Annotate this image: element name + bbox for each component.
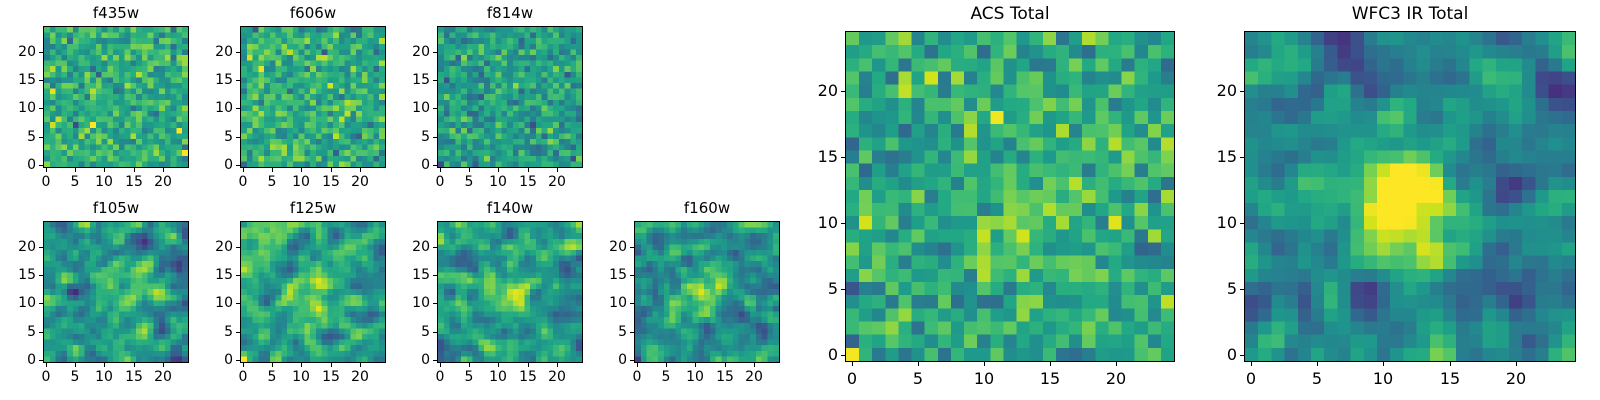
- x-tick-wfc3-ir-total-20: [1516, 362, 1517, 366]
- y-ticklabel-acs-total-15: 15: [755, 149, 838, 165]
- x-ticklabel-f814w-0: 0: [436, 175, 445, 189]
- x-ticklabel-acs-total-15: 15: [1040, 371, 1060, 387]
- panel-title-f435w: f435w: [43, 6, 189, 21]
- x-tick-f125w-0: [243, 363, 244, 367]
- heatmap-canvas-f140w: [438, 222, 582, 362]
- x-ticklabel-f125w-5: 5: [268, 370, 277, 384]
- panel-title-f125w: f125w: [240, 201, 386, 216]
- heatmap-canvas-f606w: [241, 27, 385, 167]
- y-ticklabel-f105w-0: 0: [0, 353, 36, 367]
- heatmap-f125w[interactable]: [240, 221, 386, 363]
- x-tick-f606w-5: [272, 168, 273, 172]
- x-tick-f606w-20: [360, 168, 361, 172]
- heatmap-canvas-f125w: [241, 222, 385, 362]
- x-ticklabel-f140w-5: 5: [465, 370, 474, 384]
- x-tick-wfc3-ir-total-0: [1251, 362, 1252, 366]
- x-ticklabel-f140w-15: 15: [519, 370, 537, 384]
- y-ticklabel-acs-total-20: 20: [755, 83, 838, 99]
- x-ticklabel-f140w-10: 10: [489, 370, 507, 384]
- x-ticklabel-acs-total-0: 0: [847, 371, 857, 387]
- x-tick-f814w-20: [557, 168, 558, 172]
- heatmap-f140w[interactable]: [437, 221, 583, 363]
- heatmap-f606w[interactable]: [240, 26, 386, 168]
- heatmap-canvas-f435w: [44, 27, 188, 167]
- x-ticklabel-f125w-10: 10: [292, 370, 310, 384]
- x-ticklabel-f125w-0: 0: [239, 370, 248, 384]
- x-tick-f160w-10: [695, 363, 696, 367]
- x-ticklabel-f435w-15: 15: [125, 175, 143, 189]
- x-ticklabel-wfc3-ir-total-15: 15: [1440, 371, 1460, 387]
- x-ticklabel-f140w-20: 20: [548, 370, 566, 384]
- x-tick-f606w-15: [331, 168, 332, 172]
- x-ticklabel-f435w-20: 20: [154, 175, 172, 189]
- x-ticklabel-f435w-10: 10: [95, 175, 113, 189]
- x-tick-f105w-5: [75, 363, 76, 367]
- x-ticklabel-f160w-15: 15: [716, 370, 734, 384]
- x-tick-f105w-15: [134, 363, 135, 367]
- heatmap-canvas-f814w: [438, 27, 582, 167]
- x-ticklabel-f105w-20: 20: [154, 370, 172, 384]
- y-ticklabel-f435w-20: 20: [0, 45, 36, 59]
- x-tick-f105w-0: [46, 363, 47, 367]
- x-tick-f814w-10: [498, 168, 499, 172]
- x-ticklabel-f814w-5: 5: [465, 175, 474, 189]
- x-ticklabel-f814w-20: 20: [548, 175, 566, 189]
- x-ticklabel-wfc3-ir-total-0: 0: [1246, 371, 1256, 387]
- y-ticklabel-f435w-10: 10: [0, 101, 36, 115]
- panel-title-f160w: f160w: [634, 201, 780, 216]
- figure-canvas: f435w0510152005101520f606w05101520051015…: [0, 0, 1600, 400]
- heatmap-acs-total[interactable]: [845, 31, 1175, 362]
- heatmap-f160w[interactable]: [634, 221, 780, 363]
- x-tick-f140w-0: [440, 363, 441, 367]
- x-ticklabel-wfc3-ir-total-20: 20: [1506, 371, 1526, 387]
- y-ticklabel-f435w-0: 0: [0, 158, 36, 172]
- panel-title-wfc3-ir-total: WFC3 IR Total: [1244, 6, 1576, 23]
- x-ticklabel-f814w-10: 10: [489, 175, 507, 189]
- x-tick-wfc3-ir-total-10: [1383, 362, 1384, 366]
- x-tick-acs-total-5: [918, 362, 919, 366]
- x-ticklabel-f160w-10: 10: [686, 370, 704, 384]
- heatmap-f435w[interactable]: [43, 26, 189, 168]
- x-tick-f105w-20: [163, 363, 164, 367]
- x-tick-f125w-15: [331, 363, 332, 367]
- x-tick-acs-total-10: [984, 362, 985, 366]
- x-ticklabel-f160w-5: 5: [662, 370, 671, 384]
- panel-title-f105w: f105w: [43, 201, 189, 216]
- x-tick-f435w-20: [163, 168, 164, 172]
- heatmap-canvas-f160w: [635, 222, 779, 362]
- x-ticklabel-f606w-20: 20: [351, 175, 369, 189]
- x-tick-f814w-5: [469, 168, 470, 172]
- x-tick-f435w-10: [104, 168, 105, 172]
- x-tick-f140w-20: [557, 363, 558, 367]
- x-tick-f160w-20: [754, 363, 755, 367]
- x-ticklabel-f606w-10: 10: [292, 175, 310, 189]
- x-tick-acs-total-0: [852, 362, 853, 366]
- x-tick-wfc3-ir-total-5: [1317, 362, 1318, 366]
- x-tick-f160w-5: [666, 363, 667, 367]
- x-ticklabel-acs-total-10: 10: [974, 371, 994, 387]
- x-tick-acs-total-15: [1050, 362, 1051, 366]
- heatmap-f814w[interactable]: [437, 26, 583, 168]
- x-ticklabel-f606w-15: 15: [322, 175, 340, 189]
- x-ticklabel-acs-total-5: 5: [913, 371, 923, 387]
- panel-title-f140w: f140w: [437, 201, 583, 216]
- heatmap-canvas-acs-total: [846, 32, 1174, 361]
- heatmap-canvas-wfc3-ir-total: [1245, 32, 1575, 361]
- heatmap-f105w[interactable]: [43, 221, 189, 363]
- x-tick-f125w-10: [301, 363, 302, 367]
- x-ticklabel-f435w-5: 5: [71, 175, 80, 189]
- x-tick-f435w-5: [75, 168, 76, 172]
- x-ticklabel-f125w-20: 20: [351, 370, 369, 384]
- x-ticklabel-f606w-5: 5: [268, 175, 277, 189]
- y-ticklabel-f105w-15: 15: [0, 268, 36, 282]
- x-tick-acs-total-20: [1116, 362, 1117, 366]
- x-ticklabel-f105w-15: 15: [125, 370, 143, 384]
- x-ticklabel-f435w-0: 0: [42, 175, 51, 189]
- x-ticklabel-f105w-5: 5: [71, 370, 80, 384]
- x-tick-f140w-10: [498, 363, 499, 367]
- x-tick-f140w-15: [528, 363, 529, 367]
- x-tick-f105w-10: [104, 363, 105, 367]
- x-tick-f125w-20: [360, 363, 361, 367]
- x-ticklabel-f160w-0: 0: [633, 370, 642, 384]
- y-ticklabel-f105w-10: 10: [0, 296, 36, 310]
- panel-title-f606w: f606w: [240, 6, 386, 21]
- x-ticklabel-f125w-15: 15: [322, 370, 340, 384]
- y-ticklabel-f105w-20: 20: [0, 240, 36, 254]
- panel-title-f814w: f814w: [437, 6, 583, 21]
- y-ticklabel-f435w-15: 15: [0, 73, 36, 87]
- x-tick-f125w-5: [272, 363, 273, 367]
- x-ticklabel-wfc3-ir-total-10: 10: [1373, 371, 1393, 387]
- x-tick-f814w-15: [528, 168, 529, 172]
- x-tick-f606w-10: [301, 168, 302, 172]
- y-ticklabel-f105w-5: 5: [0, 325, 36, 339]
- y-ticklabel-f435w-5: 5: [0, 130, 36, 144]
- heatmap-canvas-f105w: [44, 222, 188, 362]
- panel-title-acs-total: ACS Total: [845, 6, 1175, 23]
- x-ticklabel-acs-total-20: 20: [1106, 371, 1126, 387]
- x-tick-f606w-0: [243, 168, 244, 172]
- x-tick-f160w-0: [637, 363, 638, 367]
- x-ticklabel-f160w-20: 20: [745, 370, 763, 384]
- x-tick-f435w-15: [134, 168, 135, 172]
- x-ticklabel-wfc3-ir-total-5: 5: [1312, 371, 1322, 387]
- x-ticklabel-f814w-15: 15: [519, 175, 537, 189]
- x-ticklabel-f606w-0: 0: [239, 175, 248, 189]
- x-tick-f160w-15: [725, 363, 726, 367]
- x-tick-f814w-0: [440, 168, 441, 172]
- x-tick-f435w-0: [46, 168, 47, 172]
- x-ticklabel-f140w-0: 0: [436, 370, 445, 384]
- x-ticklabel-f105w-10: 10: [95, 370, 113, 384]
- x-tick-f140w-5: [469, 363, 470, 367]
- heatmap-wfc3-ir-total[interactable]: [1244, 31, 1576, 362]
- x-tick-wfc3-ir-total-15: [1450, 362, 1451, 366]
- x-ticklabel-f105w-0: 0: [42, 370, 51, 384]
